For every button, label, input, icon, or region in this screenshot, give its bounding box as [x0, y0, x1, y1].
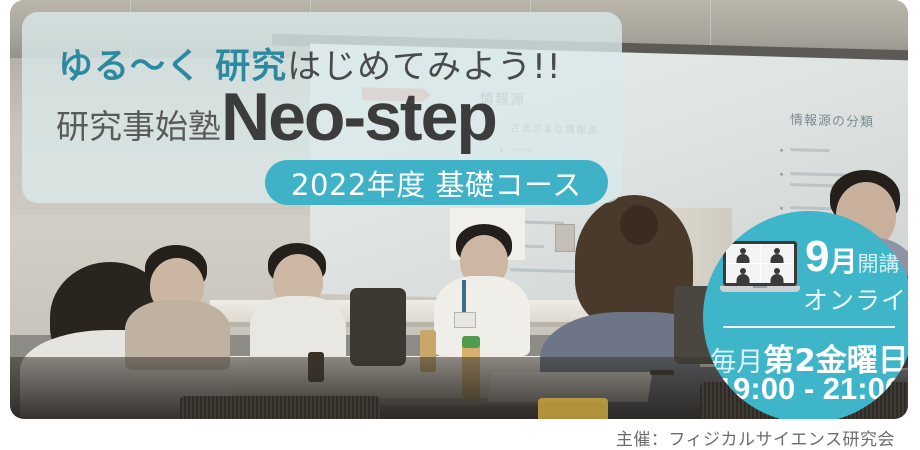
seminar-banner: 情報源 情報源の分類 さまざまな情報源: [0, 0, 920, 450]
video-grid: [726, 244, 794, 283]
id-badge: [454, 312, 476, 328]
wall-switch: [555, 224, 575, 252]
video-participant: [761, 264, 795, 283]
series-name: 研究事始塾: [56, 110, 221, 143]
bottle-cap: [462, 336, 480, 348]
bullet-dot: [780, 207, 783, 210]
slide-line: [510, 268, 576, 273]
laptop-base: [720, 286, 800, 292]
schedule-badge: 9月開講 オンライン 毎月第2金曜日 19:00 - 21:00: [703, 211, 908, 419]
laptop-screen: [723, 241, 797, 286]
badge-format: オンライン: [803, 281, 908, 317]
badge-start-label: 開講: [858, 252, 900, 276]
slide-line: [790, 148, 830, 152]
badge-divider: [723, 326, 895, 328]
video-participant: [761, 244, 795, 263]
video-participant: [726, 244, 760, 263]
title-panel: ゆる〜く 研究はじめてみよう!! 研究事始塾Neo-step 2022年度 基礎…: [22, 12, 622, 203]
badge-month-unit: 月: [829, 245, 857, 278]
course-pill-label: 2022年度 基礎コース: [291, 162, 582, 204]
program-name: Neo-step: [221, 86, 496, 149]
badge-month-number: 9: [805, 232, 829, 281]
video-participant: [726, 264, 760, 283]
laptop-video-call-icon: [720, 241, 800, 297]
yellow-object: [538, 398, 608, 419]
badge-top-row: 9月開講 オンライン: [703, 235, 908, 315]
organizer-label: 主催：フィジカルサイエンス研究会: [616, 425, 895, 450]
hair-bun: [620, 205, 658, 245]
bullet-dot: [780, 149, 783, 152]
badge-month-line: 9月開講: [805, 235, 900, 280]
footer: 主催：フィジカルサイエンス研究会: [0, 419, 920, 450]
bullet-dot: [780, 173, 783, 176]
program-title-line: 研究事始塾Neo-step: [56, 86, 496, 149]
slide-heading-right: 情報源の分類: [790, 109, 874, 130]
seminar-room-photo: 情報源 情報源の分類 さまざまな情報源: [10, 0, 908, 419]
chair-back: [350, 288, 406, 366]
course-pill: 2022年度 基礎コース: [265, 160, 608, 205]
badge-time-range: 19:00 - 21:00: [703, 371, 908, 407]
lanyard-strap: [462, 280, 466, 314]
mesh-chair: [180, 396, 380, 419]
